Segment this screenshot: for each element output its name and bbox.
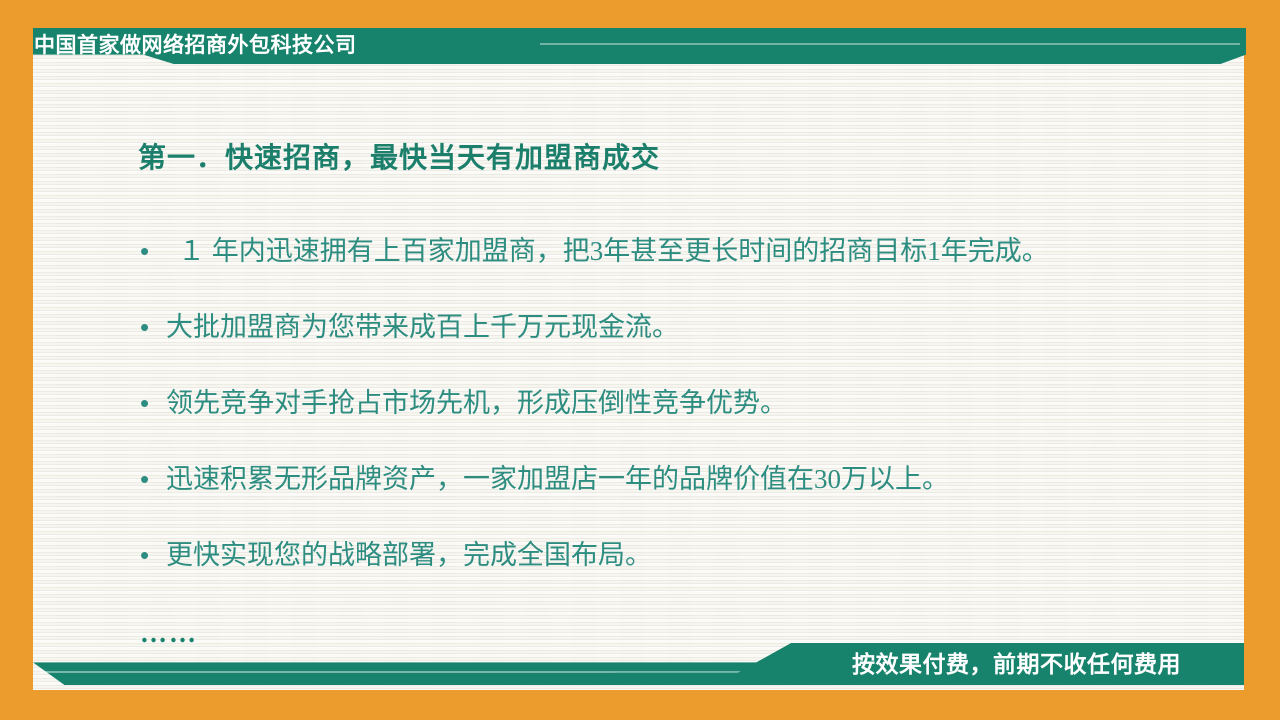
footer-tagline: 按效果付费，前期不收任何费用	[852, 646, 1181, 682]
slide-canvas: 中国首家做网络招商外包科技公司 第一．快速招商，最快当天有加盟商成交 • １ 年…	[0, 0, 1280, 720]
list-item: • 大批加盟商为您带来成百上千万元现金流。	[140, 308, 1220, 384]
header-title: 中国首家做网络招商外包科技公司	[34, 29, 357, 63]
bullet-point-icon: •	[140, 308, 166, 346]
list-item: • １ 年内迅速拥有上百家加盟商，把3年甚至更长时间的招商目标1年完成。	[140, 232, 1220, 308]
list-item: • 迅速积累无形品牌资产，一家加盟店一年的品牌价值在30万以上。	[140, 460, 1220, 536]
bullet-point-icon: •	[140, 232, 166, 270]
list-item: • 更快实现您的战略部署，完成全国布局。	[140, 536, 1220, 612]
bullet-point-icon: •	[140, 384, 166, 422]
list-item: • 领先竞争对手抢占市场先机，形成压倒性竞争优势。	[140, 384, 1220, 460]
list-item-label: 大批加盟商为您带来成百上千万元现金流。	[166, 308, 679, 346]
ellipsis-text: ……	[140, 618, 198, 649]
list-item-label: １ 年内迅速拥有上百家加盟商，把3年甚至更长时间的招商目标1年完成。	[166, 232, 1049, 270]
footer-divider-line	[40, 671, 745, 673]
list-item-label: 迅速积累无形品牌资产，一家加盟店一年的品牌价值在30万以上。	[166, 460, 949, 498]
header-divider-line	[540, 43, 1240, 45]
list-item-label: 领先竞争对手抢占市场先机，形成压倒性竞争优势。	[166, 384, 787, 422]
bullet-point-icon: •	[140, 460, 166, 498]
list-item-label: 更快实现您的战略部署，完成全国布局。	[166, 536, 652, 574]
page-title: 第一．快速招商，最快当天有加盟商成交	[138, 136, 660, 176]
bullet-list: • １ 年内迅速拥有上百家加盟商，把3年甚至更长时间的招商目标1年完成。 • 大…	[140, 232, 1220, 612]
bullet-point-icon: •	[140, 536, 166, 574]
